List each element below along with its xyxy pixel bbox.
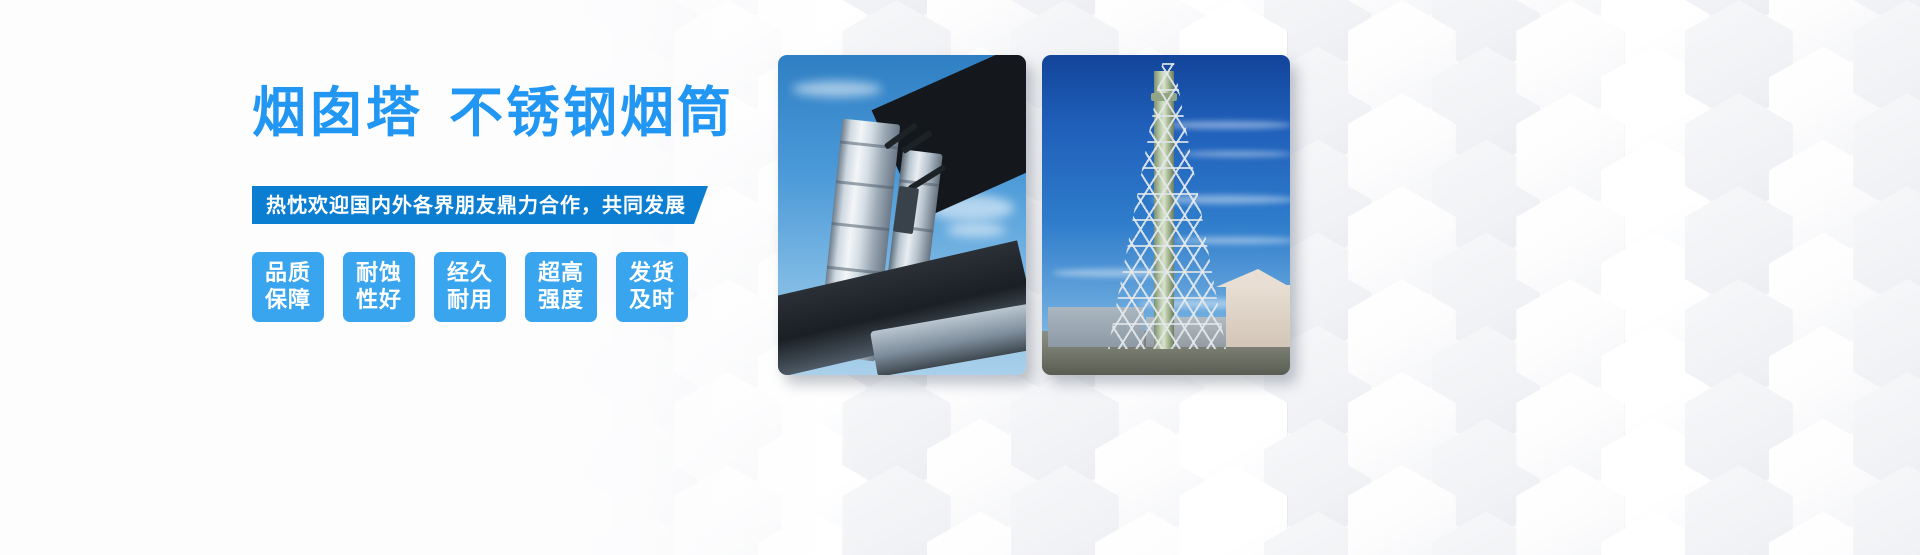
feature-badge-list: 品质 保障 耐蚀 性好 经久 耐用 超高 强度 发货 及时 xyxy=(252,252,688,322)
badge-line-1: 品质 xyxy=(265,260,311,287)
headline-part-1: 烟囱塔 xyxy=(252,81,423,144)
badge-line-1: 经久 xyxy=(447,260,493,287)
headline-part-2: 不锈钢烟筒 xyxy=(449,81,734,144)
cloud-wisp xyxy=(1182,151,1290,157)
badge-line-1: 超高 xyxy=(538,260,584,287)
feature-badge-durable[interactable]: 经久 耐用 xyxy=(434,252,506,322)
feature-badge-strength[interactable]: 超高 强度 xyxy=(525,252,597,322)
cloud-shape xyxy=(792,81,882,97)
feature-badge-shipping[interactable]: 发货 及时 xyxy=(616,252,688,322)
subtitle-ribbon: 热忱欢迎国内外各界朋友鼎力合作，共同发展 xyxy=(252,186,708,224)
promo-banner: 烟囱塔不锈钢烟筒 热忱欢迎国内外各界朋友鼎力合作，共同发展 品质 保障 耐蚀 性… xyxy=(0,0,1920,555)
feature-badge-quality[interactable]: 品质 保障 xyxy=(252,252,324,322)
badge-line-2: 强度 xyxy=(538,287,584,314)
product-photo-chimney-tower[interactable] xyxy=(1042,55,1290,375)
badge-line-2: 及时 xyxy=(629,287,675,314)
badge-line-2: 耐用 xyxy=(447,287,493,314)
badge-line-1: 耐蚀 xyxy=(356,260,402,287)
badge-line-2: 性好 xyxy=(356,287,402,314)
subtitle-text: 热忱欢迎国内外各界朋友鼎力合作，共同发展 xyxy=(266,195,686,215)
badge-line-1: 发货 xyxy=(629,260,675,287)
product-photo-stainless-chimney[interactable] xyxy=(778,55,1026,375)
cloud-shape xyxy=(946,223,1006,237)
badge-line-2: 保障 xyxy=(265,287,311,314)
industrial-building xyxy=(1226,285,1290,347)
feature-badge-corrosion[interactable]: 耐蚀 性好 xyxy=(343,252,415,322)
